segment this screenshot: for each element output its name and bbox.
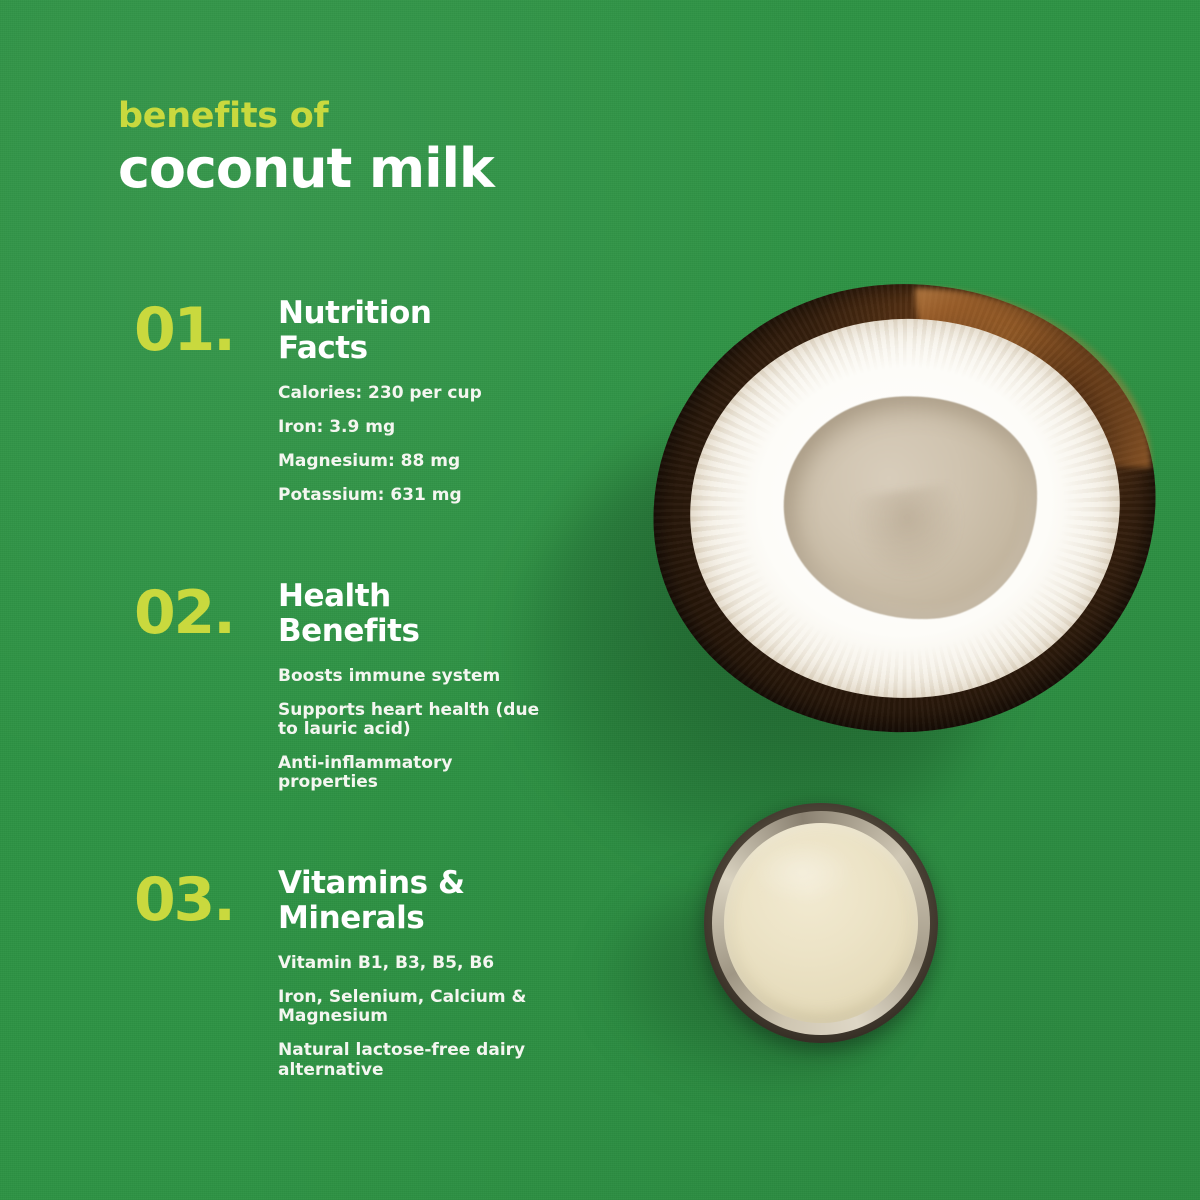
section-title: Health Benefits [278,579,578,649]
section-number: 02. [134,583,304,643]
coconut-inner-cavity [776,387,1045,628]
list-item: Iron: 3.9 mg [278,418,548,437]
glass-rim [712,811,930,1036]
section-body: Vitamins & Minerals Vitamin B1, B3, B5, … [278,866,578,1079]
benefit-section-02: 02. Health Benefits Boosts immune system… [118,579,578,792]
coconut-husk-fiber-texture [642,271,1168,745]
section-body: Health Benefits Boosts immune system Sup… [278,579,578,792]
section-title: Nutrition Facts [278,296,578,366]
coconut-milk-surface [724,823,918,1023]
section-item-list: Vitamin B1, B3, B5, B6 Iron, Selenium, C… [278,954,578,1079]
glass-drop-shadow [600,880,900,1090]
list-item: Anti-inflammatory properties [278,754,540,792]
headline-kicker: benefits of [118,98,678,135]
glass-of-coconut-milk-photo [704,803,938,1043]
glass-outer-wall [704,803,938,1043]
headline-block: benefits of coconut milk [118,98,678,196]
coconut-husk [642,271,1168,745]
coconut-husk-tan-highlight [915,288,1151,467]
section-title: Vitamins & Minerals [278,866,578,936]
section-body: Nutrition Facts Calories: 230 per cup Ir… [278,296,578,505]
list-item: Supports heart health (due to lauric aci… [278,701,540,739]
section-item-list: Calories: 230 per cup Iron: 3.9 mg Magne… [278,384,578,505]
benefit-section-01: 01. Nutrition Facts Calories: 230 per cu… [118,296,578,505]
list-item: Boosts immune system [278,667,540,686]
list-item: Iron, Selenium, Calcium & Magnesium [278,988,540,1026]
benefit-section-03: 03. Vitamins & Minerals Vitamin B1, B3, … [118,866,578,1079]
list-item: Natural lactose-free dairy alternative [278,1041,540,1079]
section-number: 01. [134,300,304,360]
list-item: Vitamin B1, B3, B5, B6 [278,954,540,973]
coconut-flesh-striations [681,308,1130,709]
benefit-sections: 01. Nutrition Facts Calories: 230 per cu… [118,296,578,1080]
milk-surface-sheen [751,841,854,903]
section-item-list: Boosts immune system Supports heart heal… [278,667,578,792]
list-item: Calories: 230 per cup [278,384,548,403]
page-title: coconut milk [118,141,678,197]
list-item: Magnesium: 88 mg [278,452,548,471]
list-item: Potassium: 631 mg [278,486,548,505]
coconut-white-flesh [681,308,1130,709]
coconut-half-photo [653,284,1156,732]
section-number: 03. [134,870,304,930]
infographic-poster: benefits of coconut milk 01. Nutrition F… [0,0,1200,1200]
coconut-cavity-crease [848,483,970,587]
